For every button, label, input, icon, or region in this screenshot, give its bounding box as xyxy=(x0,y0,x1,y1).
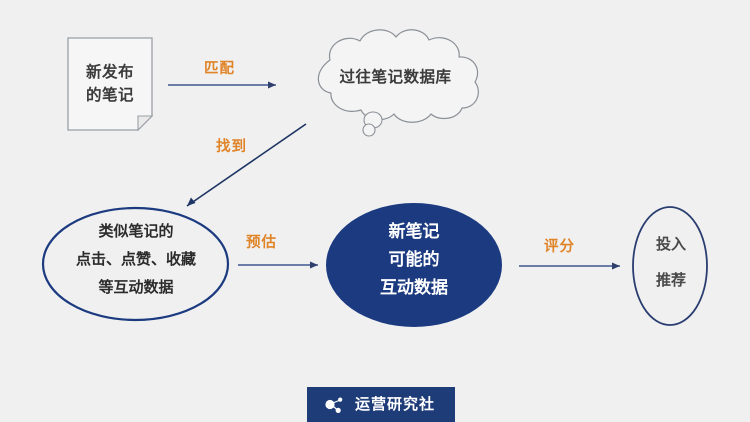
estimate-arrow-label: 预估 xyxy=(246,236,277,251)
find-arrow-label: 找到 xyxy=(216,140,247,155)
recommend-line-2: 推荐 xyxy=(636,273,706,288)
past-notes-db-label: 过往笔记数据库 xyxy=(313,70,478,86)
new-note-line-2: 的笔记 xyxy=(86,88,134,104)
predicted-data-line-2: 可能的 xyxy=(330,252,498,269)
match-arrow-label: 匹配 xyxy=(204,62,235,77)
similar-notes-line-3: 等互动数据 xyxy=(50,280,222,295)
estimate-arrow xyxy=(238,262,318,269)
similar-notes-label: 类似笔记的 点击、点赞、收藏 等互动数据 xyxy=(50,224,222,295)
similar-notes-line-1: 类似笔记的 xyxy=(50,224,222,239)
similar-notes-line-2: 点击、点赞、收藏 xyxy=(50,252,222,267)
score-arrow xyxy=(519,263,620,270)
new-note-label: 新发布 的笔记 xyxy=(68,38,152,130)
new-note-line-1: 新发布 xyxy=(86,65,134,81)
recommend-label: 投入 推荐 xyxy=(636,237,706,288)
predicted-data-label: 新笔记 可能的 互动数据 xyxy=(330,224,498,297)
score-arrow-label: 评分 xyxy=(544,240,575,255)
footer-logo-bar: 运营研究社 xyxy=(307,387,455,422)
new-note-card[interactable]: 新发布 的笔记 xyxy=(68,38,152,130)
predicted-data-line-1: 新笔记 xyxy=(330,224,498,241)
footer-logo-text: 运营研究社 xyxy=(355,397,435,412)
predicted-data-line-3: 互动数据 xyxy=(330,280,498,297)
recommend-line-1: 投入 xyxy=(636,237,706,252)
find-arrow xyxy=(187,124,306,206)
slide-canvas: 新发布 的笔记 过往笔记数据库 类似笔记的 点击、点赞、收藏 等互动数据 新笔记… xyxy=(0,0,750,422)
molecule-nodes-icon xyxy=(323,395,347,415)
match-arrow xyxy=(168,82,276,89)
